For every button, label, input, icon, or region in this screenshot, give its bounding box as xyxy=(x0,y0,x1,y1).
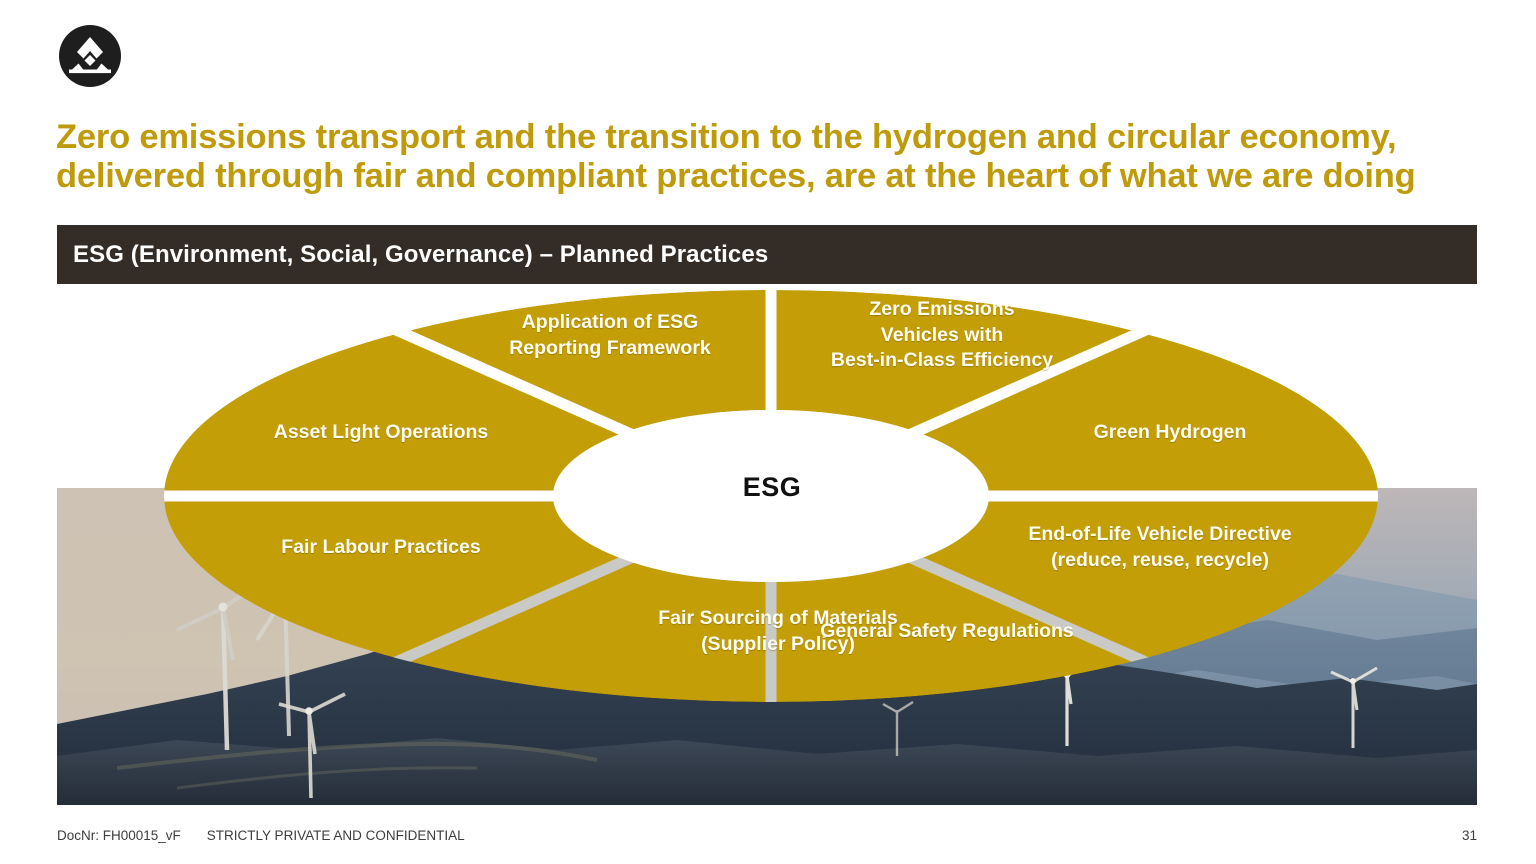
esg-wheel-diagram: Application of ESG Reporting Framework Z… xyxy=(164,290,1378,702)
footer-confidentiality-notice: STRICTLY PRIVATE AND CONFIDENTIAL xyxy=(207,828,465,843)
esg-hub-label: ESG xyxy=(724,472,820,503)
mountain-diamond-logo-icon xyxy=(58,24,122,88)
footer-page-number: 31 xyxy=(1462,828,1477,843)
footer-doc-number: DocNr: FH00015_vF xyxy=(57,828,181,843)
page-title: Zero emissions transport and the transit… xyxy=(56,118,1476,195)
page-title-line-1: Zero emissions transport and the transit… xyxy=(56,118,1476,157)
company-logo xyxy=(58,24,122,88)
footer: DocNr: FH00015_vF STRICTLY PRIVATE AND C… xyxy=(57,822,1477,848)
page-title-line-2: delivered through fair and compliant pra… xyxy=(56,157,1476,196)
section-header-label: ESG (Environment, Social, Governance) – … xyxy=(57,241,768,269)
section-header-bar: ESG (Environment, Social, Governance) – … xyxy=(57,225,1477,284)
